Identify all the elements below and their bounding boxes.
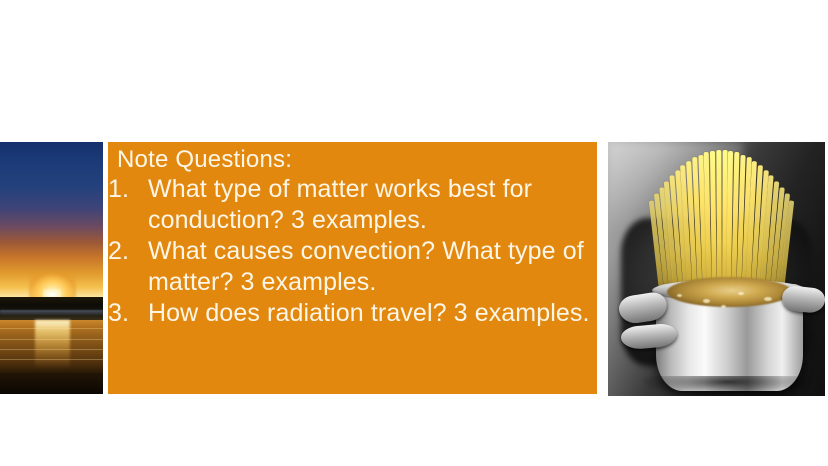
horizon-band: [0, 297, 103, 320]
bubble: [738, 292, 744, 295]
sun-reflection: [35, 320, 70, 369]
ripple-line: [0, 359, 103, 360]
list-item-text: How does radiation travel? 3 examples.: [148, 298, 593, 329]
pasta-boiling-in-pot-photo: [608, 142, 825, 396]
list-item-text: What type of matter works best for condu…: [148, 174, 593, 236]
list-item: 3. How does radiation travel? 3 examples…: [108, 298, 593, 329]
list-item-number: 2.: [108, 236, 148, 267]
sunset-over-ocean-photo: [0, 142, 103, 394]
ripple-line: [0, 349, 103, 350]
pot-shadow: [643, 376, 812, 396]
ripple-line: [0, 328, 103, 329]
list-item-number: 1.: [108, 174, 148, 205]
surf-band: [0, 310, 103, 316]
list-item-number: 3.: [108, 298, 148, 329]
note-questions-list: 1. What type of matter works best for co…: [108, 174, 593, 329]
presentation-slide: Note Questions: 1. What type of matter w…: [0, 0, 828, 466]
note-questions-title: Note Questions:: [117, 145, 292, 175]
list-item-text: What causes convection? What type of mat…: [148, 236, 593, 298]
ripple-line: [0, 339, 103, 340]
list-item: 2. What causes convection? What type of …: [108, 236, 593, 298]
note-questions-box: Note Questions: 1. What type of matter w…: [108, 142, 597, 394]
list-item: 1. What type of matter works best for co…: [108, 174, 593, 236]
boiling-water: [667, 277, 793, 307]
foreground-beach: [0, 373, 103, 394]
bubble: [721, 305, 726, 308]
